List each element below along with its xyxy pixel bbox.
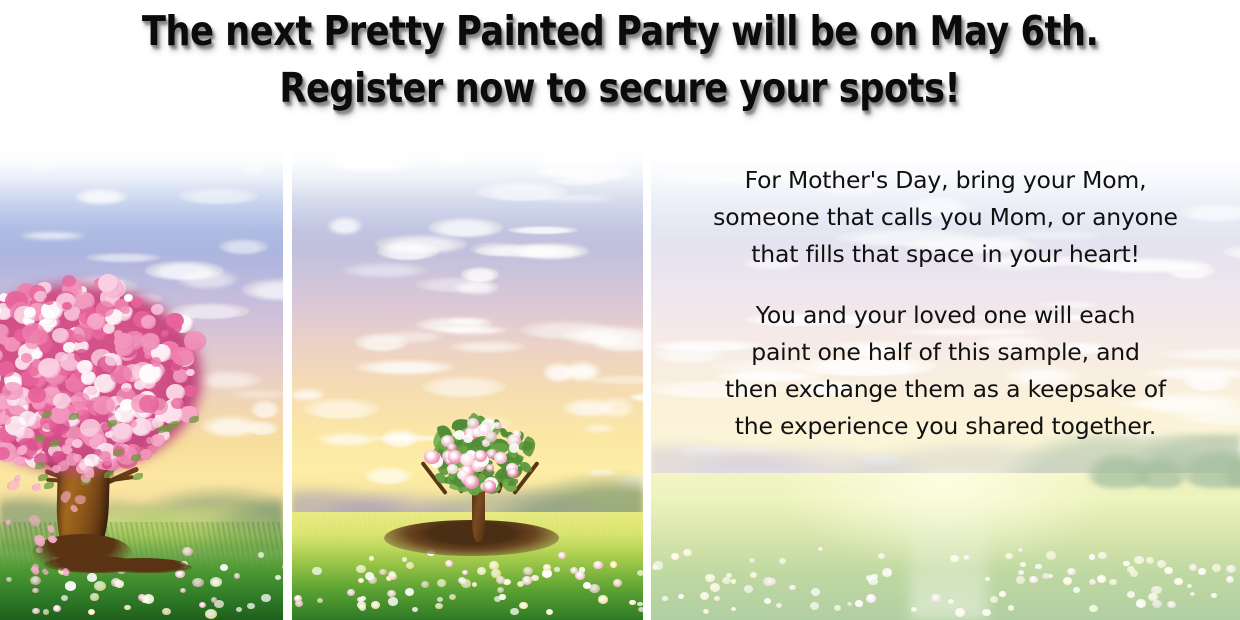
faded-meadow-text-panel: For Mother's Day, bring your Mom, someon… xyxy=(651,130,1240,620)
message-paragraph-2: You and your loved one will each paint o… xyxy=(725,297,1166,445)
flower xyxy=(199,602,206,608)
headline-line-2: Register now to secure your spots! xyxy=(280,63,961,113)
canopy-leaf xyxy=(133,473,143,480)
blossom-cluster xyxy=(62,275,76,287)
cloud xyxy=(449,341,526,352)
blossom-cluster xyxy=(73,324,94,342)
cloud xyxy=(343,263,426,276)
flower xyxy=(162,608,171,615)
flower xyxy=(371,601,380,609)
cloud xyxy=(629,393,643,401)
flower xyxy=(294,595,302,602)
cloud xyxy=(461,267,500,282)
flower xyxy=(358,578,364,583)
flower xyxy=(437,579,446,586)
message-line: that fills that space in your heart! xyxy=(713,236,1178,273)
flower xyxy=(192,578,203,588)
flower xyxy=(517,581,524,587)
flower xyxy=(180,588,186,593)
cloud xyxy=(356,360,454,374)
message-line: For Mother's Day, bring your Mom, xyxy=(713,162,1178,199)
message-paragraph-1: For Mother's Day, bring your Mom, someon… xyxy=(713,162,1178,273)
flower xyxy=(90,593,98,600)
cloud xyxy=(421,376,507,397)
flower xyxy=(65,581,77,591)
flower xyxy=(32,588,39,594)
flower xyxy=(519,602,528,610)
flower xyxy=(53,605,61,612)
flower xyxy=(491,569,501,577)
small-tree-blossom xyxy=(486,464,494,472)
blossom-cluster xyxy=(99,451,111,461)
blossom-cluster xyxy=(0,415,11,425)
flower xyxy=(598,595,608,604)
cloud xyxy=(445,318,492,324)
flower xyxy=(261,594,271,602)
blossom-cluster xyxy=(141,333,160,350)
blossom-canopy xyxy=(0,258,226,508)
blossom-cluster xyxy=(53,393,71,409)
blossom-cluster xyxy=(172,347,194,366)
cloud xyxy=(303,398,379,419)
flower xyxy=(499,594,506,600)
panel-divider-right xyxy=(643,130,651,620)
blossom-cluster xyxy=(28,387,45,402)
flower xyxy=(554,567,559,572)
blossom-cluster xyxy=(38,358,61,378)
flower xyxy=(143,594,154,604)
cloud xyxy=(381,429,420,447)
blossom-cluster xyxy=(22,323,45,343)
small-tree-blossom xyxy=(513,430,521,437)
flower xyxy=(360,596,366,601)
blossom-cluster xyxy=(141,315,157,329)
flower xyxy=(406,562,414,569)
cloud xyxy=(598,397,634,417)
flower xyxy=(115,580,124,588)
flower xyxy=(234,573,240,578)
flower xyxy=(388,571,396,578)
flower xyxy=(211,597,217,602)
flower xyxy=(388,597,398,605)
flower xyxy=(523,567,532,575)
flower xyxy=(312,567,322,575)
flower xyxy=(365,572,374,580)
blossom-cluster xyxy=(63,342,76,353)
flower xyxy=(32,608,39,614)
cloud xyxy=(251,400,280,418)
flower xyxy=(558,552,566,558)
blossom-cluster xyxy=(44,297,53,305)
message-line: the experience you shared together. xyxy=(725,408,1166,445)
small-tree-blossom xyxy=(509,443,519,453)
cloud xyxy=(230,390,283,397)
small-tree-blossom xyxy=(460,453,474,466)
blossom-cluster xyxy=(186,369,194,376)
flower xyxy=(461,579,471,588)
top-white-fade xyxy=(292,130,643,250)
top-white-fade xyxy=(0,130,283,250)
flower xyxy=(94,581,106,591)
flower xyxy=(220,564,228,571)
flower xyxy=(510,608,518,615)
blossom-cluster xyxy=(114,333,133,350)
flower xyxy=(437,597,443,602)
flower xyxy=(205,609,217,619)
flower xyxy=(435,603,443,610)
message-line: then exchange them as a keepsake of xyxy=(725,371,1166,408)
blossom-cluster xyxy=(139,364,162,384)
blossom-cluster xyxy=(171,398,184,409)
flower xyxy=(61,595,68,601)
small-tree-blossom xyxy=(424,450,440,464)
flower xyxy=(275,575,281,580)
blossom-cluster xyxy=(32,350,42,359)
message-block: For Mother's Day, bring your Mom, someon… xyxy=(651,130,1240,620)
blossom-cluster xyxy=(98,274,119,293)
small-tree xyxy=(420,412,540,542)
wildflower-bed xyxy=(292,547,643,611)
flower xyxy=(212,579,220,586)
cloud xyxy=(242,279,283,301)
flower xyxy=(387,590,396,598)
message-line: You and your loved one will each xyxy=(725,297,1166,334)
panel-divider-left xyxy=(283,130,292,620)
flower xyxy=(531,575,539,581)
flower xyxy=(356,565,366,573)
flower xyxy=(124,605,131,611)
canopy-leaf xyxy=(104,471,114,478)
small-tree-blossom xyxy=(457,470,468,481)
flower xyxy=(497,587,504,593)
flower xyxy=(258,552,265,558)
flower xyxy=(236,607,242,612)
flower xyxy=(247,603,254,609)
flower xyxy=(421,581,429,588)
small-flowering-tree-painting xyxy=(292,130,643,620)
flower xyxy=(445,560,453,567)
blossom-cluster xyxy=(93,396,115,415)
cherry-blossom-tree-painting xyxy=(0,130,283,620)
blossom-cluster xyxy=(140,449,152,460)
flower xyxy=(405,588,414,596)
cloud xyxy=(562,326,643,344)
flower xyxy=(347,589,355,595)
flower xyxy=(477,567,487,575)
cloud xyxy=(543,363,575,382)
canopy-leaf xyxy=(38,474,48,481)
cloud xyxy=(317,433,378,445)
canopy-leaf xyxy=(35,462,45,469)
blossom-cluster xyxy=(166,313,183,328)
flower xyxy=(472,582,477,587)
flower xyxy=(610,561,617,567)
blossom-cluster xyxy=(24,307,37,318)
headline-line-1: The next Pretty Painted Party will be on… xyxy=(142,6,1099,56)
blossom-cluster xyxy=(139,395,159,413)
painting-panel-strip: For Mother's Day, bring your Mom, someon… xyxy=(0,130,1240,620)
small-tree-blossom xyxy=(467,418,478,428)
flower xyxy=(462,570,468,575)
cloud xyxy=(385,331,444,342)
cloud xyxy=(583,424,615,432)
canopy-leaf xyxy=(44,482,54,489)
flower xyxy=(570,567,578,574)
flower xyxy=(543,564,551,571)
flower xyxy=(317,598,323,603)
blossom-cluster xyxy=(86,386,97,395)
blossom-cluster xyxy=(52,328,69,343)
flower xyxy=(637,602,642,606)
flower xyxy=(489,561,499,569)
small-tree-blossom xyxy=(463,434,473,443)
flower xyxy=(43,609,50,615)
banner-header: The next Pretty Painted Party will be on… xyxy=(0,0,1240,138)
flower xyxy=(369,556,374,561)
flower xyxy=(379,569,386,575)
blossom-cluster xyxy=(15,429,25,438)
message-line: someone that calls you Mom, or anyone xyxy=(713,199,1178,236)
canopy-leaf xyxy=(189,416,199,423)
flower xyxy=(629,600,636,606)
flower xyxy=(87,573,97,581)
blossom-cluster xyxy=(21,353,32,363)
flower xyxy=(30,576,41,585)
flower xyxy=(357,601,366,609)
flower xyxy=(593,561,602,569)
message-line: paint one half of this sample, and xyxy=(725,334,1166,371)
small-tree-blossom xyxy=(494,452,507,464)
small-tree-blossom xyxy=(507,468,518,478)
flower xyxy=(182,547,193,556)
flower xyxy=(613,579,622,587)
blossom-cluster xyxy=(95,331,103,338)
cloud xyxy=(454,281,499,294)
flower xyxy=(402,557,408,562)
flower xyxy=(449,594,456,600)
flower xyxy=(6,577,12,582)
blossom-cluster xyxy=(50,406,71,424)
